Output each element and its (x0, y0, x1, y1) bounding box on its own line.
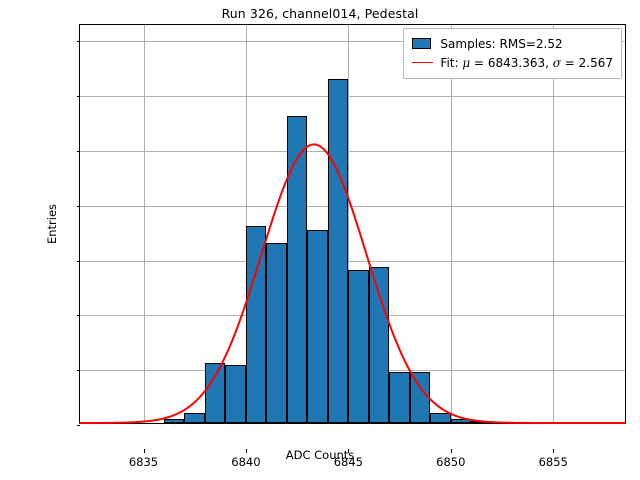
y-axis-label: Entries (45, 204, 59, 244)
histogram-bar (348, 270, 368, 423)
legend-fit-mu: = 6843.363, (470, 56, 553, 70)
gridline-h (80, 96, 625, 97)
legend-swatch-samples (412, 38, 431, 49)
legend-label-samples: Samples: RMS=2.52 (440, 37, 562, 51)
histogram-bar (205, 363, 225, 423)
legend-swatch-fit (412, 62, 433, 63)
histogram-bar (287, 116, 307, 423)
histogram-bar (307, 230, 327, 423)
y-tick (77, 425, 81, 426)
mu-symbol: μ (462, 56, 470, 70)
y-tick (77, 41, 81, 42)
y-tick (77, 370, 81, 371)
histogram-bar (266, 243, 286, 423)
histogram-bar (225, 365, 245, 423)
histogram-bar (328, 79, 348, 423)
histogram-bar (184, 413, 204, 423)
chart-title: Run 326, channel014, Pedestal (0, 6, 640, 21)
histogram-bar (369, 267, 389, 423)
figure: Run 326, channel014, Pedestal 0100020003… (0, 0, 640, 480)
plot-area: 01000200030004000500060007000 6835684068… (79, 24, 626, 424)
legend-fit-sigma: = 2.567 (561, 56, 613, 70)
histogram-bar (389, 372, 409, 423)
gridline-v (553, 25, 554, 423)
legend-item-samples: Samples: RMS=2.52 (412, 34, 613, 53)
y-tick (77, 261, 81, 262)
histogram-bar (410, 372, 430, 424)
y-tick (77, 315, 81, 316)
gridline-h (80, 151, 625, 152)
histogram-bar (451, 419, 471, 423)
x-axis-label: ADC Counts (0, 448, 640, 462)
y-tick (77, 206, 81, 207)
legend-fit-prefix: Fit: (440, 56, 462, 70)
histogram-bar (430, 413, 450, 423)
gridline-h (80, 261, 625, 262)
histogram-bar (246, 226, 266, 423)
gridline-v (451, 25, 452, 423)
sigma-symbol: σ (553, 56, 561, 70)
gridline-v (144, 25, 145, 423)
histogram-bar (164, 419, 184, 423)
y-tick (77, 151, 81, 152)
legend-item-fit: Fit: μ = 6843.363, σ = 2.567 (412, 53, 613, 72)
legend: Samples: RMS=2.52 Fit: μ = 6843.363, σ =… (403, 28, 622, 79)
gridline-h (80, 206, 625, 207)
y-tick (77, 96, 81, 97)
histogram-bar (471, 421, 491, 423)
legend-label-fit: Fit: μ = 6843.363, σ = 2.567 (440, 56, 613, 70)
